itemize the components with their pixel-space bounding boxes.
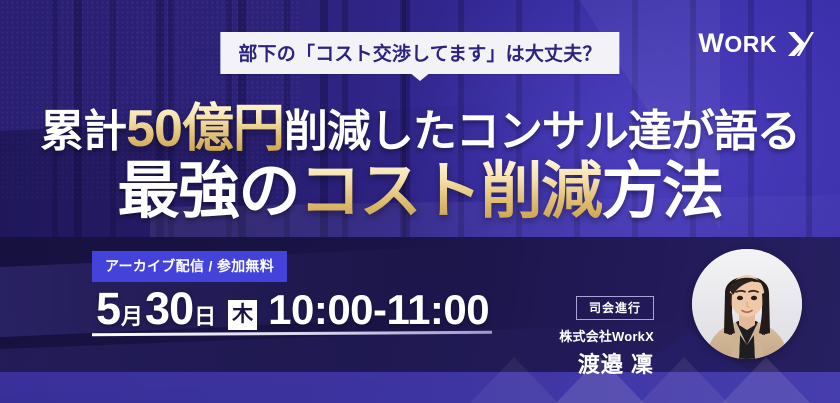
speaker-info: 司会進行 株式会社WorkX 渡邉 凜	[559, 296, 654, 379]
schedule-day: 30	[145, 283, 193, 335]
logo-x-icon	[786, 29, 816, 59]
logo-wordmark: WORK	[698, 28, 777, 59]
speaker-name: 渡邉 凜	[559, 347, 654, 379]
schedule-weekday: 木	[228, 300, 257, 330]
schedule-day-unit: 日	[194, 299, 216, 331]
headline-line-2: 最強のコスト削減方法	[0, 140, 840, 230]
speaker-avatar	[692, 249, 802, 359]
archive-free-badge: アーカイブ配信 / 参加無料	[92, 251, 287, 282]
speaker-role-badge: 司会進行	[576, 296, 654, 320]
schedule-time: 10:00-11:00	[268, 286, 489, 334]
headline-line-2-highlight: コスト削減	[299, 157, 602, 226]
schedule-row: 5 月 30 日 木 10:00-11:00	[96, 283, 489, 335]
workx-logo[interactable]: WORK	[698, 28, 816, 59]
headline-line-2-prefix: 最強の	[117, 157, 299, 226]
speaker-company: 株式会社WorkX	[559, 326, 654, 345]
background-chevron-4	[470, 357, 558, 403]
schedule-month: 5	[96, 283, 120, 335]
background-chevron-1	[722, 357, 810, 403]
headline-line-2-suffix: 方法	[602, 157, 723, 226]
logo-word-first-letter: W	[698, 28, 724, 58]
subheadline: 部下の「コスト交渉してます」は大丈夫？	[220, 32, 619, 74]
schedule-month-unit: 月	[121, 299, 143, 331]
logo-word-rest: ORK	[724, 31, 777, 57]
webinar-banner: WORK 部下の「コスト交渉してます」は大丈夫？ 累計50億円削減したコンサル達…	[0, 0, 840, 403]
subheadline-notch-icon	[409, 72, 431, 81]
